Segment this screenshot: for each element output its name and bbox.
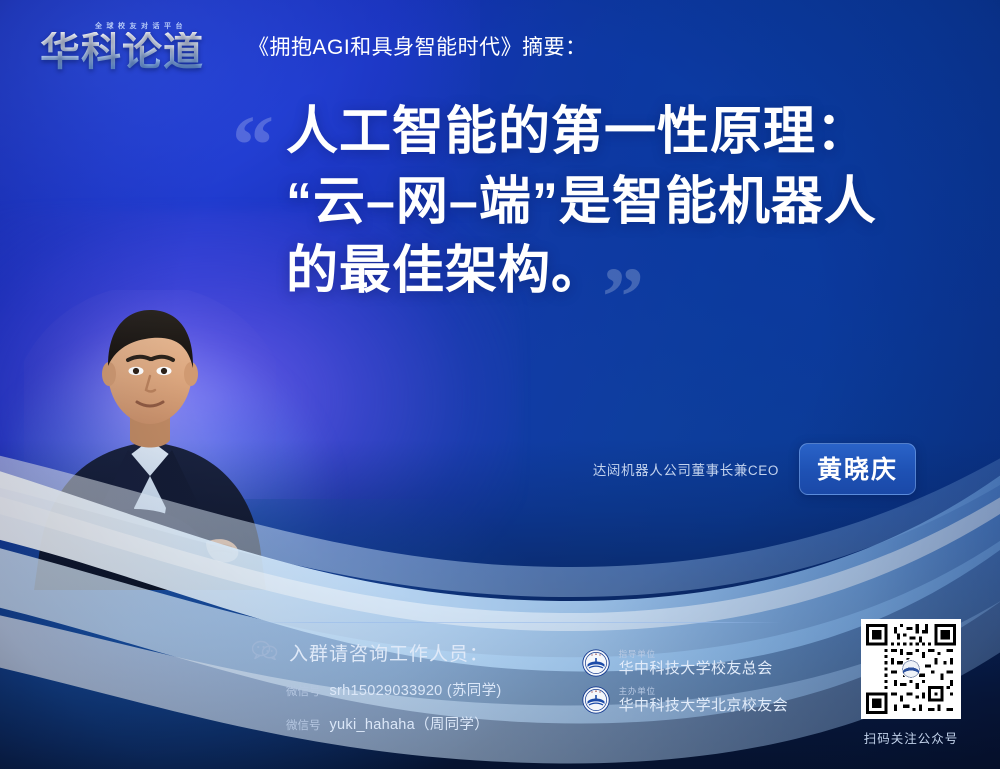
footer-section: 入群请咨询工作人员： 微信号 srh15029033920 (苏同学) 微信号 … xyxy=(252,622,792,747)
logo-wordmark: 华科论道 xyxy=(40,32,204,72)
brand-logo[interactable]: 全球校友对话平台 华科论道 xyxy=(24,21,220,72)
poster-header: 全球校友对话平台 华科论道 《拥抱AGI和具身智能时代》摘要： xyxy=(0,0,1000,92)
footer-divider xyxy=(252,622,782,623)
speaker-attribution: 达闼机器人公司董事长兼CEO 黄晓庆 xyxy=(593,443,916,495)
organization-texts: 指导单位 华中科技大学校友总会 xyxy=(619,650,773,677)
quote-lines: 人工智能的第一性原理： “云–网–端”是智能机器人 的最佳架构。 xyxy=(232,98,952,307)
organization-name: 华中科技大学校友总会 xyxy=(619,661,773,677)
organizations-column: 指导单位 华中科技大学校友总会 xyxy=(582,639,788,723)
qr-code[interactable] xyxy=(861,619,961,719)
organization-row: 主办单位 华中科技大学北京校友会 xyxy=(582,686,788,714)
quote-line-2: “云–网–端”是智能机器人 xyxy=(286,168,952,238)
speaker-title: 达闼机器人公司董事长兼CEO xyxy=(593,459,779,479)
organization-kind: 主办单位 xyxy=(619,687,788,696)
poster-root: 全球校友对话平台 华科论道 《拥抱AGI和具身智能时代》摘要： “ ” 人工智能… xyxy=(0,0,1000,769)
contact-heading: 入群请咨询工作人员： xyxy=(289,639,489,666)
qr-block: 扫码关注公众号 xyxy=(850,619,972,747)
contact-value: yuki_hahaha（周同学） xyxy=(330,713,490,734)
contact-label: 微信号 xyxy=(286,683,321,699)
contact-label: 微信号 xyxy=(286,717,321,733)
contact-row[interactable]: 微信号 yuki_hahaha（周同学） xyxy=(252,713,552,734)
logo-tagline: 全球校友对话平台 xyxy=(95,21,187,31)
quote-line-1: 人工智能的第一性原理： xyxy=(286,98,952,168)
contact-heading-row: 入群请咨询工作人员： xyxy=(252,639,552,666)
quote-line-3: 的最佳架构。 xyxy=(286,237,952,307)
quote-block: “ ” 人工智能的第一性原理： “云–网–端”是智能机器人 的最佳架构。 xyxy=(232,98,952,307)
organization-texts: 主办单位 华中科技大学北京校友会 xyxy=(619,687,788,714)
contact-value: srh15029033920 (苏同学) xyxy=(330,679,502,700)
university-seal-icon xyxy=(582,649,610,677)
organization-name: 华中科技大学北京校友会 xyxy=(619,698,788,714)
university-seal-icon xyxy=(582,686,610,714)
organization-row: 指导单位 华中科技大学校友总会 xyxy=(582,649,788,677)
contact-row[interactable]: 微信号 srh15029033920 (苏同学) xyxy=(252,679,552,700)
wechat-icon xyxy=(252,640,278,665)
contact-column: 入群请咨询工作人员： 微信号 srh15029033920 (苏同学) 微信号 … xyxy=(252,639,552,747)
page-title: 《拥抱AGI和具身智能时代》摘要： xyxy=(248,31,587,61)
speaker-name-badge: 黄晓庆 xyxy=(799,443,916,495)
qr-caption: 扫码关注公众号 xyxy=(850,728,972,747)
organization-kind: 指导单位 xyxy=(619,650,773,659)
